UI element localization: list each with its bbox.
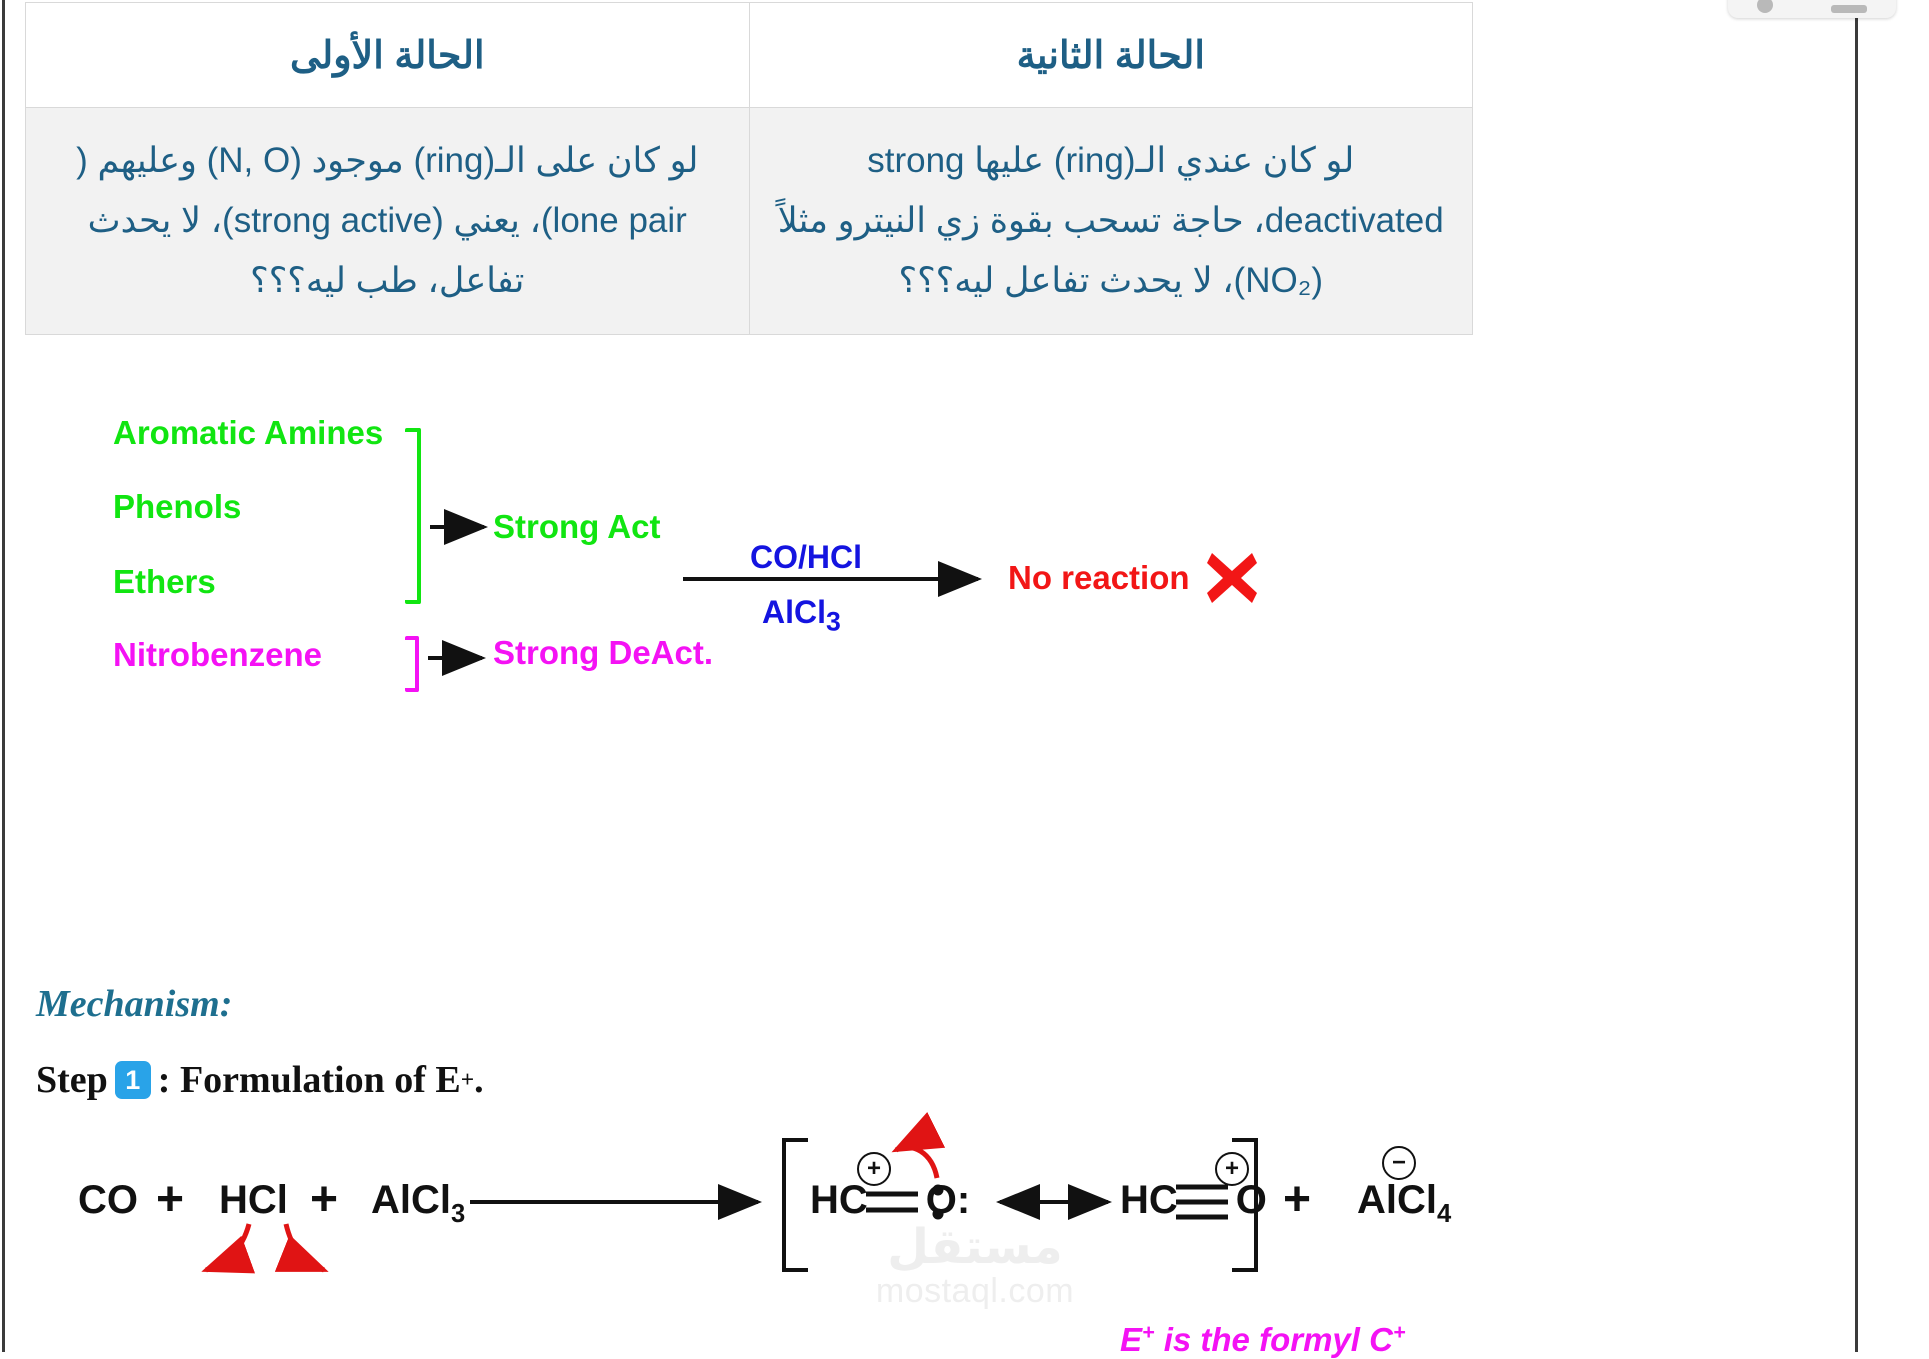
step-prefix-label: Step — [36, 1058, 108, 1102]
table-row: لو كان عندي الـ(ring) عليها strong deact… — [26, 108, 1473, 335]
step-suffix-period: . — [474, 1058, 484, 1102]
table-header-case-two: الحالة الثانية — [749, 3, 1473, 108]
mechanism-heading: Mechanism: — [36, 982, 232, 1026]
classification-diagram: Aromatic Amines Phenols Ethers Nitrobenz… — [0, 396, 1600, 726]
formyl-note-sup1: + — [1142, 1320, 1155, 1344]
table-header-case-one: الحالة الأولى — [26, 3, 750, 108]
red-x-icon — [1205, 551, 1259, 605]
formyl-note-part1: E — [1120, 1321, 1142, 1358]
step-number-badge: 1 — [115, 1061, 151, 1099]
table-cell-case-two: لو كان عندي الـ(ring) عليها strong deact… — [749, 108, 1473, 335]
red-curved-arrow-icon-resonance — [896, 1147, 937, 1178]
step-one-line: Step 1 : Formulation of E+. — [36, 1058, 484, 1102]
floating-toolbar[interactable] — [1728, 0, 1896, 18]
formyl-cation-note: E+ is the formyl C+ — [1120, 1320, 1405, 1359]
table-header-row: الحالة الثانية الحالة الأولى — [26, 3, 1473, 108]
red-curved-arrow-icon-right — [286, 1224, 324, 1270]
step-suffix-superscript: + — [461, 1067, 474, 1094]
lone-pair-dot-lower — [933, 1209, 944, 1220]
step-suffix-label: : Formulation of E — [158, 1058, 461, 1102]
formyl-note-part2: is the formyl C — [1155, 1321, 1393, 1358]
table-cell-case-one: لو كان على الـ(ring) موجود (N, O) وعليهم… — [26, 108, 750, 335]
lone-pair-dot-upper — [933, 1185, 944, 1196]
equation-arrows — [0, 1130, 1860, 1352]
formyl-note-sup2: + — [1393, 1320, 1406, 1344]
diagram-arrows — [0, 396, 1600, 726]
comparison-table: الحالة الثانية الحالة الأولى لو كان عندي… — [25, 2, 1473, 335]
mechanism-equation: CO + HCl + AlCl3 HCO: + HCO + + AlCl4 − — [0, 1130, 1860, 1352]
minus-bar-icon[interactable] — [1831, 5, 1867, 13]
red-curved-arrow-icon-left — [206, 1224, 249, 1270]
circle-icon[interactable] — [1757, 0, 1773, 13]
